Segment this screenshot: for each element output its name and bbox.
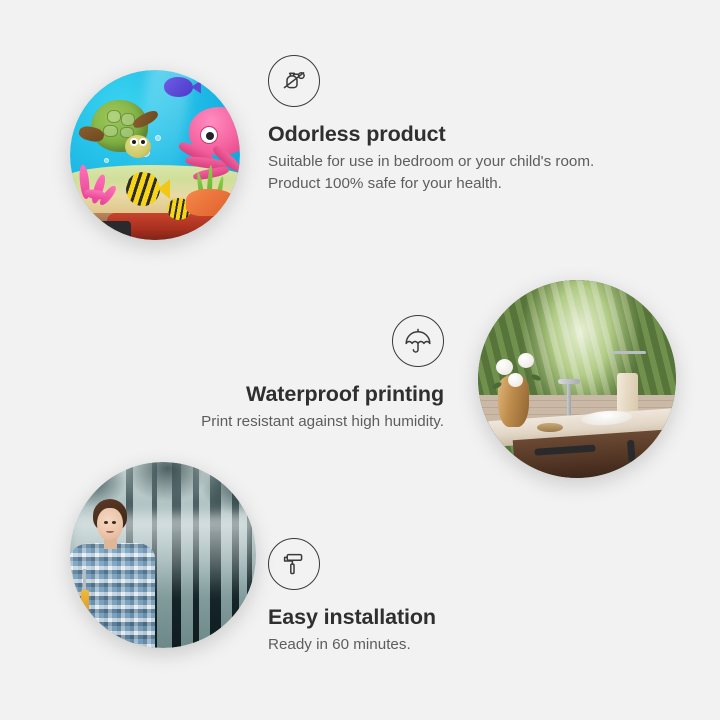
- feature-odorless: Odorless product Suitable for use in bed…: [268, 55, 608, 194]
- white-rose: [518, 353, 534, 368]
- paint-roller-icon: [268, 538, 320, 590]
- room-dark-furniture: [90, 221, 131, 240]
- octopus-eye: [200, 126, 218, 144]
- sink-faucet: [567, 383, 571, 419]
- feature-description: Print resistant against high humidity.: [140, 411, 444, 433]
- icon-wrap: [140, 315, 444, 367]
- white-rose: [508, 373, 523, 387]
- feature-title: Waterproof printing: [140, 381, 444, 407]
- starfish: [186, 189, 237, 216]
- icon-wrap: [268, 538, 568, 590]
- blue-fish: [164, 77, 201, 97]
- feature-title: Odorless product: [268, 121, 608, 147]
- paint-roller-tool: [81, 590, 89, 617]
- underwater-cartoon-mural-photo: [70, 70, 240, 240]
- yellow-striped-fish: [126, 172, 170, 206]
- feature-install: Easy installation Ready in 60 minutes.: [268, 538, 568, 656]
- feature-waterproof: Waterproof printing Print resistant agai…: [140, 315, 444, 433]
- face: [97, 508, 122, 542]
- installer-woman-forest-wallpaper-photo: [70, 462, 256, 648]
- feature-title: Easy installation: [268, 604, 568, 630]
- no-odor-perfume-bottle-icon: [268, 55, 320, 107]
- feature-description: Ready in 60 minutes.: [268, 634, 568, 656]
- turtle-head: [125, 135, 152, 158]
- white-rose: [496, 359, 513, 375]
- installer-woman: [70, 495, 178, 648]
- icon-wrap: [268, 55, 608, 107]
- sea-turtle-figure: [77, 97, 165, 165]
- feature-highlights-panel: Odorless product Suitable for use in bed…: [0, 0, 720, 720]
- feature-description: Suitable for use in bedroom or your chil…: [268, 151, 608, 194]
- umbrella-icon: [392, 315, 444, 367]
- pink-coral: [70, 162, 124, 216]
- towel-bar: [613, 351, 647, 354]
- bathroom-vanity-tropical-wallpaper-photo: [478, 280, 676, 478]
